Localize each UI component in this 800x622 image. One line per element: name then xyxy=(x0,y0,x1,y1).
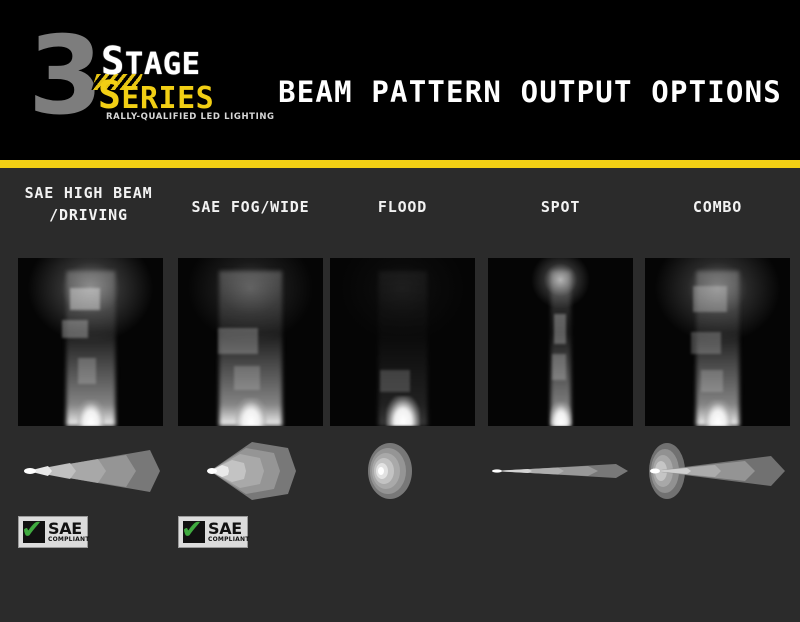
beam-shape-svg xyxy=(488,440,633,502)
beam-column-label: SPOT xyxy=(488,196,633,218)
sae-badge-text: SAE COMPLIANT xyxy=(48,521,90,543)
beam-diagram-spot xyxy=(488,440,633,502)
beam-diagram-driving xyxy=(18,440,163,502)
beam-column-label: SAE FOG/WIDE xyxy=(178,196,323,218)
logo-numeral: 3 xyxy=(28,28,97,126)
sae-badge-subtitle: COMPLIANT xyxy=(48,537,90,543)
check-icon: ✔ xyxy=(21,517,43,543)
photo-detail xyxy=(380,370,410,392)
photo-detail xyxy=(693,286,727,312)
sae-check-box: ✔ xyxy=(23,521,45,543)
photo-detail xyxy=(701,370,723,392)
photo-detail xyxy=(554,314,566,344)
logo-tagline: RALLY-QUALIFIED LED LIGHTING xyxy=(106,112,275,122)
photo-detail xyxy=(218,328,258,354)
brand-logo: 3 STAGE SERIES RALLY-QUALIFIED LED LIGHT… xyxy=(28,28,243,133)
beam-shape-svg xyxy=(18,440,163,502)
photo-detail xyxy=(234,366,260,390)
sae-compliant-badge: ✔ SAE COMPLIANT xyxy=(18,516,88,548)
logo-stage-rest: TAGE xyxy=(125,47,201,82)
beam-column-label: COMBO xyxy=(645,196,790,218)
sae-badge-title: SAE xyxy=(48,521,90,537)
photo-hotspot xyxy=(77,400,105,426)
sae-badge-title: SAE xyxy=(208,521,250,537)
beam-photo-driving xyxy=(18,258,163,426)
beam-diagram-combo xyxy=(645,440,790,502)
beam-photo-combo xyxy=(645,258,790,426)
logo-series-capital: S xyxy=(98,73,121,117)
yellow-divider xyxy=(0,160,800,168)
beam-diagram-wide xyxy=(178,440,323,502)
sae-badge-subtitle: COMPLIANT xyxy=(208,537,250,543)
page-header: 3 STAGE SERIES RALLY-QUALIFIED LED LIGHT… xyxy=(0,0,800,160)
logo-word-series: SERIES xyxy=(98,80,214,114)
sae-badge-text: SAE COMPLIANT xyxy=(208,521,250,543)
beam-shape-svg xyxy=(178,440,323,502)
beam-column-label: SAE HIGH BEAM /DRIVING xyxy=(16,182,161,226)
photo-hotspot xyxy=(386,396,420,426)
beam-diagram-flood xyxy=(330,440,475,502)
beam-photo-flood xyxy=(330,258,475,426)
photo-detail xyxy=(70,288,100,310)
sae-compliant-badge: ✔ SAE COMPLIANT xyxy=(178,516,248,548)
beam-photo-wide xyxy=(178,258,323,426)
check-icon: ✔ xyxy=(181,517,203,543)
beam-shape-svg xyxy=(645,440,790,502)
photo-detail xyxy=(78,358,96,384)
photo-hotspot xyxy=(704,400,732,426)
photo-detail xyxy=(691,332,721,354)
beam-column-label: FLOOD xyxy=(330,196,475,218)
beam-comparison-grid: SAE HIGH BEAM /DRIVING ✔ xyxy=(0,168,800,622)
photo-detail xyxy=(62,320,88,338)
photo-hotspot xyxy=(235,398,267,426)
photo-hotspot xyxy=(550,402,572,426)
beam-shape-svg xyxy=(330,440,475,502)
photo-detail xyxy=(552,354,566,380)
page-title: BEAM PATTERN OUTPUT OPTIONS xyxy=(270,76,790,108)
beam-photo-spot xyxy=(488,258,633,426)
logo-series-rest: ERIES xyxy=(121,81,214,116)
sae-check-box: ✔ xyxy=(183,521,205,543)
